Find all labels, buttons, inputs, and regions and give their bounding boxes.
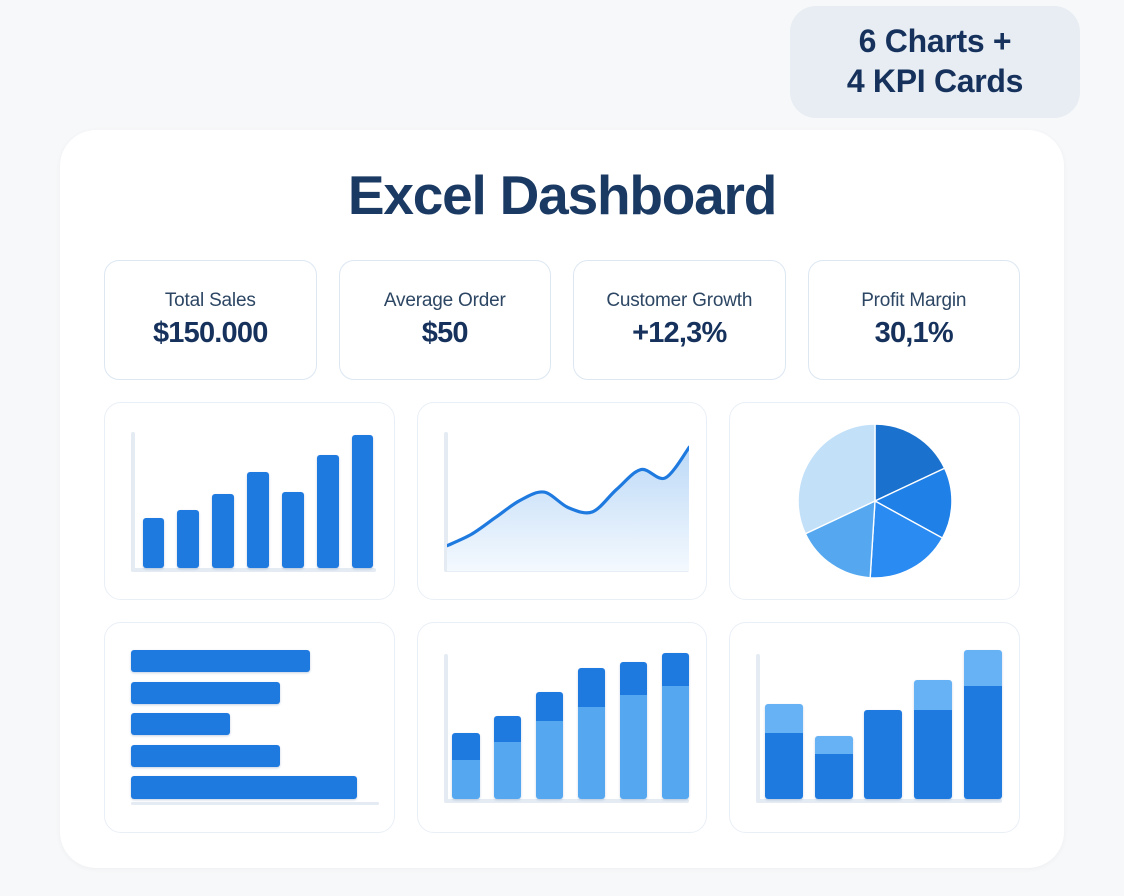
horizontal-bar-series [131, 650, 379, 798]
stacked-segment-base [815, 754, 853, 799]
pie-chart [730, 403, 1019, 599]
column-bar-series [143, 430, 374, 567]
stacked-bar-3 [536, 692, 563, 799]
column-chart [105, 403, 394, 599]
x-axis-line [131, 802, 379, 805]
stacked-segment-base [452, 760, 479, 799]
stacked-bar-4 [578, 668, 605, 799]
y-axis-line [131, 432, 135, 571]
stacked-bar-1 [765, 704, 803, 799]
kpi-label: Total Sales [165, 290, 256, 312]
x-axis-line [756, 799, 1001, 803]
stacked-segment-top [964, 650, 1002, 686]
stacked-segment-top [765, 704, 803, 734]
column-bar-1 [143, 518, 164, 567]
area-line-chart [418, 403, 707, 599]
kpi-value: 30,1% [875, 317, 953, 350]
stacked-bar-2 [494, 716, 521, 799]
stacked-segment-base [494, 742, 521, 798]
pie-series [795, 421, 955, 581]
stacked-segment-base [536, 721, 563, 798]
stacked-wide-bar-chart [730, 623, 1019, 832]
stacked-segment-top [662, 653, 689, 686]
column-bar-2 [177, 510, 198, 568]
stacked-bar-2 [815, 736, 853, 798]
stacked-segment-base [662, 686, 689, 799]
page-title: Excel Dashboard [60, 168, 1064, 223]
chart-card-column[interactable] [104, 402, 395, 600]
column-bar-6 [317, 455, 338, 567]
horizontal-bar-4 [131, 745, 280, 767]
stacked-bar-1 [452, 733, 479, 798]
y-axis-line [756, 654, 760, 802]
kpi-label: Profit Margin [861, 290, 966, 312]
column-bar-7 [352, 435, 373, 568]
chart-card-stacked-wide-bar[interactable] [729, 622, 1020, 833]
stacked-segment-base [914, 710, 952, 799]
chart-card-pie[interactable] [729, 402, 1020, 600]
horizontal-bar-chart [105, 623, 394, 832]
charts-kpi-badge: 6 Charts + 4 KPI Cards [790, 6, 1080, 118]
kpi-value: $50 [422, 317, 468, 350]
kpi-value: +12,3% [632, 317, 726, 350]
chart-card-area[interactable] [417, 402, 708, 600]
stacked-segment-top [494, 716, 521, 743]
stacked-segment-base [864, 710, 902, 799]
x-axis-line [131, 568, 376, 572]
chart-card-horizontal-bar[interactable] [104, 622, 395, 833]
stacked-segment-top [620, 662, 647, 695]
x-axis-line [444, 799, 689, 803]
stacked-segment-top [452, 733, 479, 760]
column-bar-4 [247, 472, 268, 568]
stacked-bar-6 [662, 653, 689, 799]
chart-card-stacked-column[interactable] [417, 622, 708, 833]
stacked-bar-series [452, 650, 689, 799]
stacked-wide-bar-series [765, 650, 1002, 799]
stacked-segment-base [964, 686, 1002, 799]
kpi-label: Average Order [384, 290, 506, 312]
stacked-segment-top [815, 736, 853, 754]
chart-row-top [104, 402, 1020, 600]
dashboard-card: Excel Dashboard Total Sales $150.000 Ave… [60, 130, 1064, 868]
kpi-card-total-sales[interactable]: Total Sales $150.000 [104, 260, 317, 380]
horizontal-bar-3 [131, 713, 230, 735]
stacked-segment-base [765, 733, 803, 798]
stacked-bar-5 [620, 662, 647, 799]
kpi-card-customer-growth[interactable]: Customer Growth +12,3% [573, 260, 786, 380]
stacked-segment-top [914, 680, 952, 710]
horizontal-bar-1 [131, 650, 310, 672]
badge-line-1: 6 Charts + [859, 23, 1012, 61]
stacked-segment-base [620, 695, 647, 799]
column-bar-5 [282, 492, 303, 567]
stacked-bar-3 [864, 710, 902, 799]
stacked-segment-top [536, 692, 563, 722]
stacked-bar-4 [914, 680, 952, 799]
horizontal-bar-5 [131, 776, 357, 798]
kpi-card-average-order[interactable]: Average Order $50 [339, 260, 552, 380]
area-series [447, 430, 689, 571]
chart-row-bottom [104, 622, 1020, 833]
column-bar-3 [212, 494, 233, 568]
horizontal-bar-2 [131, 682, 280, 704]
stacked-column-chart [418, 623, 707, 832]
kpi-label: Customer Growth [606, 290, 752, 312]
y-axis-line [444, 654, 448, 802]
badge-line-2: 4 KPI Cards [847, 63, 1023, 101]
kpi-value: $150.000 [153, 317, 268, 350]
stacked-segment-base [578, 707, 605, 799]
stacked-bar-5 [964, 650, 1002, 799]
kpi-card-profit-margin[interactable]: Profit Margin 30,1% [808, 260, 1021, 380]
kpi-card-row: Total Sales $150.000 Average Order $50 C… [104, 260, 1020, 380]
stacked-segment-top [578, 668, 605, 707]
